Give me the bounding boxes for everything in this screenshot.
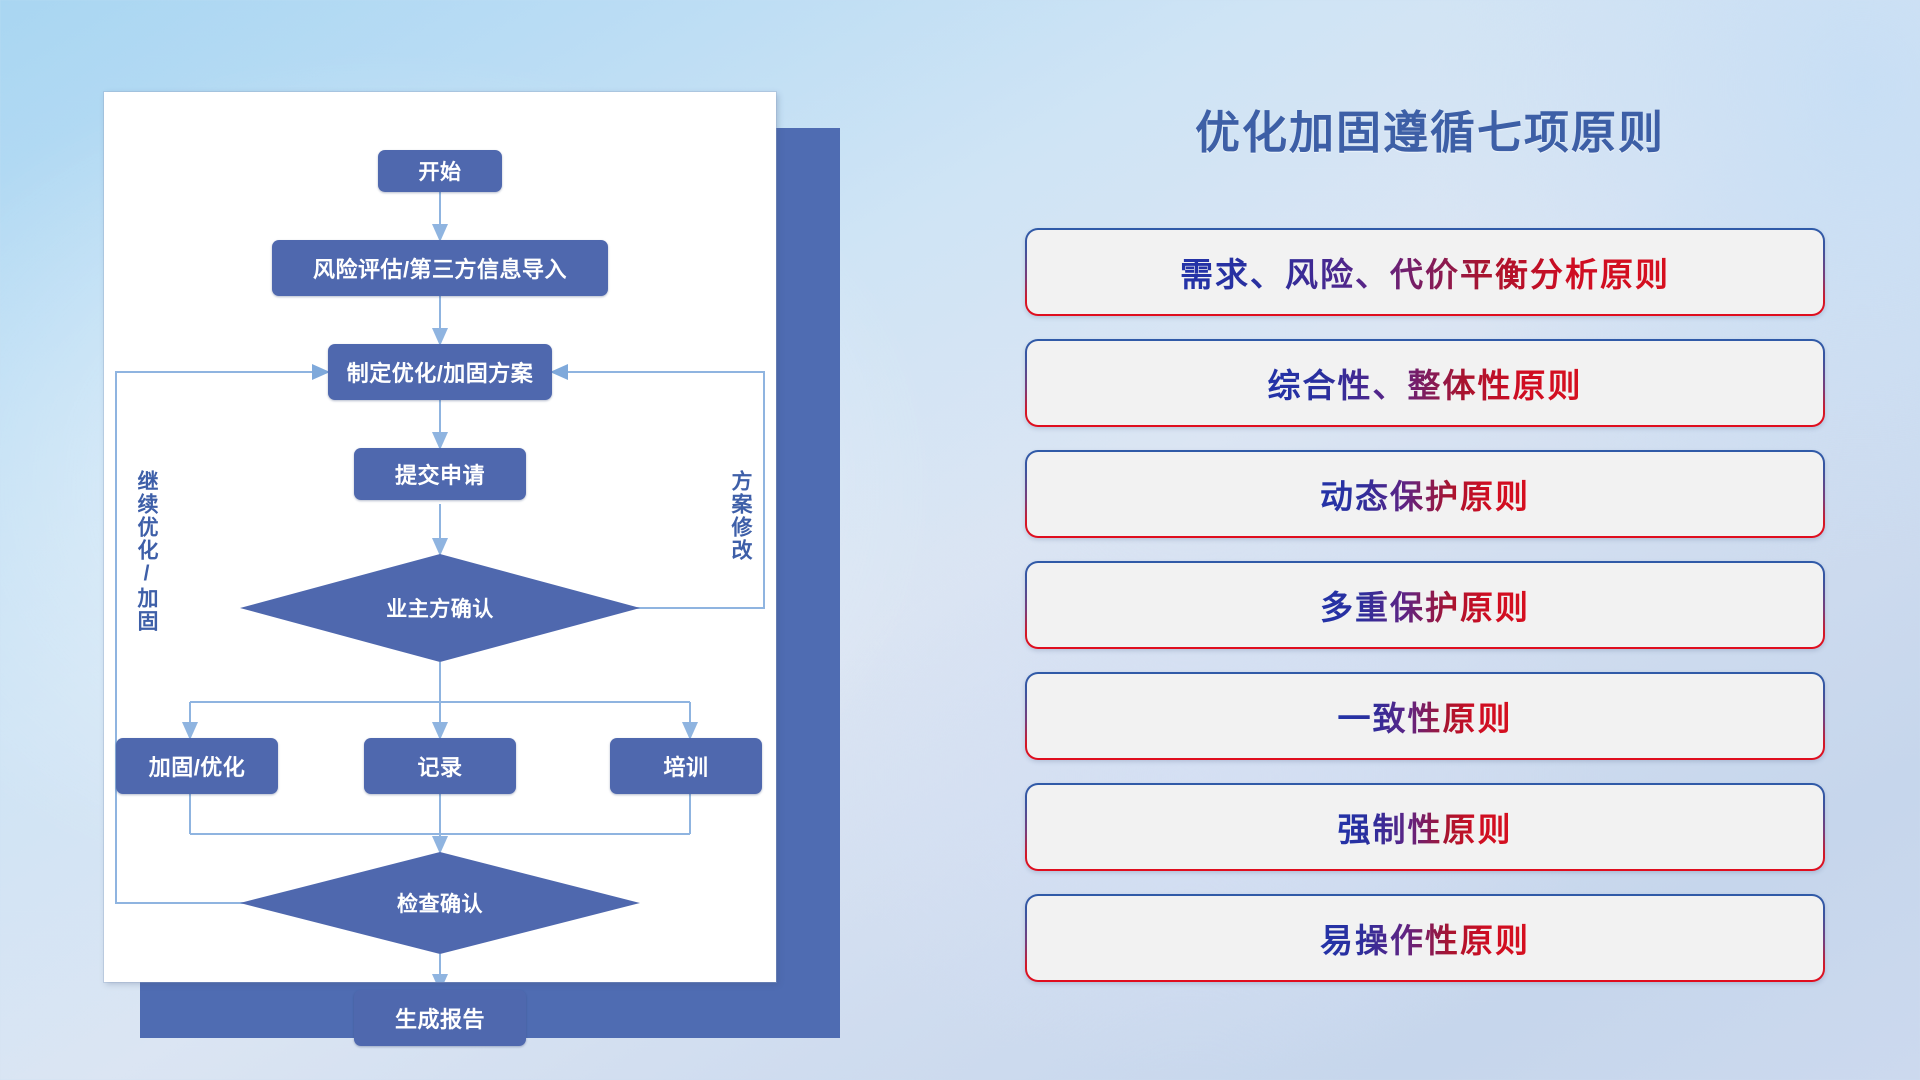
principles-panel: 优化加固遵循七项原则 需求、风险、代价平衡分析原则 综合性、整体性原则 动态保护… <box>1015 96 1845 1026</box>
flowchart-panel: 开始 风险评估/第三方信息导入 制定优化/加固方案 提交申请 业主方确认 加固/… <box>104 92 804 1002</box>
flow-node-risk-assessment[interactable]: 风险评估/第三方信息导入 <box>272 240 608 296</box>
principle-item-7[interactable]: 易操作性原则 <box>1025 894 1825 982</box>
flow-node-training[interactable]: 培训 <box>610 738 762 794</box>
principle-item-1-body: 需求、风险、代价平衡分析原则 <box>1027 230 1823 314</box>
flow-edge-label-plan-revision: 方案修改 <box>730 470 751 562</box>
principle-item-5-label: 一致性原则 <box>1338 692 1513 740</box>
principle-item-7-label: 易操作性原则 <box>1320 914 1530 962</box>
principle-item-5[interactable]: 一致性原则 <box>1025 672 1825 760</box>
principle-item-4[interactable]: 多重保护原则 <box>1025 561 1825 649</box>
principle-item-2[interactable]: 综合性、整体性原则 <box>1025 339 1825 427</box>
principle-item-1-label: 需求、风险、代价平衡分析原则 <box>1180 248 1670 296</box>
flow-edge-label-continue-optimize: 继续优化/加固 <box>136 470 157 633</box>
flow-node-submit-application[interactable]: 提交申请 <box>354 448 526 500</box>
principle-item-6-label: 强制性原则 <box>1338 803 1513 851</box>
principle-item-6-body: 强制性原则 <box>1027 785 1823 869</box>
flowchart-connectors <box>104 92 776 982</box>
principle-item-3[interactable]: 动态保护原则 <box>1025 450 1825 538</box>
principle-item-4-label: 多重保护原则 <box>1320 581 1530 629</box>
flow-node-check-confirm-label: 检查确认 <box>240 852 640 954</box>
flow-node-generate-report[interactable]: 生成报告 <box>354 990 526 1046</box>
principle-item-7-body: 易操作性原则 <box>1027 896 1823 980</box>
principles-list: 需求、风险、代价平衡分析原则 综合性、整体性原则 动态保护原则 多重保护原则 一… <box>1025 228 1825 1005</box>
flow-node-make-plan[interactable]: 制定优化/加固方案 <box>328 344 552 400</box>
principle-item-5-body: 一致性原则 <box>1027 674 1823 758</box>
principle-item-6[interactable]: 强制性原则 <box>1025 783 1825 871</box>
principle-item-1[interactable]: 需求、风险、代价平衡分析原则 <box>1025 228 1825 316</box>
flow-node-start[interactable]: 开始 <box>378 150 502 192</box>
principle-item-4-body: 多重保护原则 <box>1027 563 1823 647</box>
flow-node-record[interactable]: 记录 <box>364 738 516 794</box>
principle-item-2-label: 综合性、整体性原则 <box>1268 359 1583 407</box>
flow-node-reinforce-optimize[interactable]: 加固/优化 <box>116 738 278 794</box>
principle-item-2-body: 综合性、整体性原则 <box>1027 341 1823 425</box>
flowchart-card: 开始 风险评估/第三方信息导入 制定优化/加固方案 提交申请 业主方确认 加固/… <box>104 92 776 982</box>
flow-node-owner-confirm-label: 业主方确认 <box>240 554 640 662</box>
principles-title: 优化加固遵循七项原则 <box>1015 96 1845 161</box>
principle-item-3-label: 动态保护原则 <box>1320 470 1530 518</box>
principle-item-3-body: 动态保护原则 <box>1027 452 1823 536</box>
